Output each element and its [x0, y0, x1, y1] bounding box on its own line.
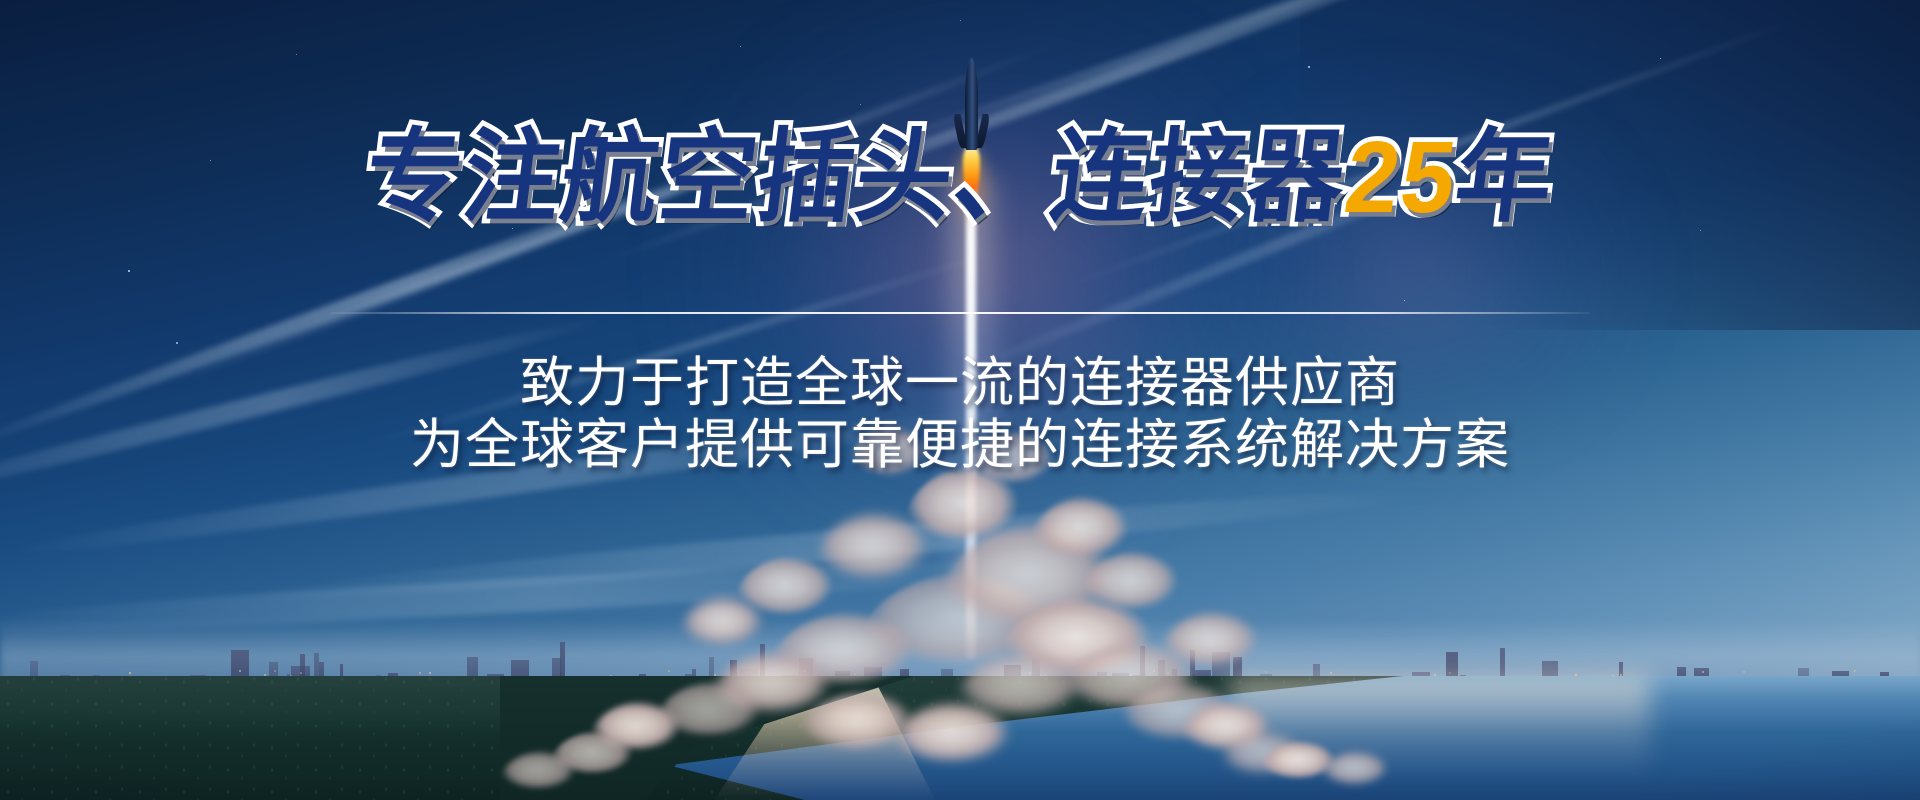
headline-divider [330, 312, 1590, 314]
headline: 专注航空插头、连接器25年 [0, 130, 1920, 226]
headline-part-primary: 专注航空插头、连接器 [359, 127, 1351, 229]
headline-years-unit: 年 [1450, 127, 1560, 229]
subtitle-line-2: 为全球客户提供可靠便捷的连接系统解决方案 [0, 414, 1920, 476]
hero-banner: 专注航空插头、连接器25年 致力于打造全球一流的连接器供应商 为全球客户提供可靠… [0, 0, 1920, 800]
subtitle-line-1: 致力于打造全球一流的连接器供应商 [0, 352, 1920, 414]
subtitle: 致力于打造全球一流的连接器供应商 为全球客户提供可靠便捷的连接系统解决方案 [0, 352, 1920, 476]
banner-content: 专注航空插头、连接器25年 致力于打造全球一流的连接器供应商 为全球客户提供可靠… [0, 0, 1920, 800]
headline-years-number: 25 [1339, 127, 1462, 229]
